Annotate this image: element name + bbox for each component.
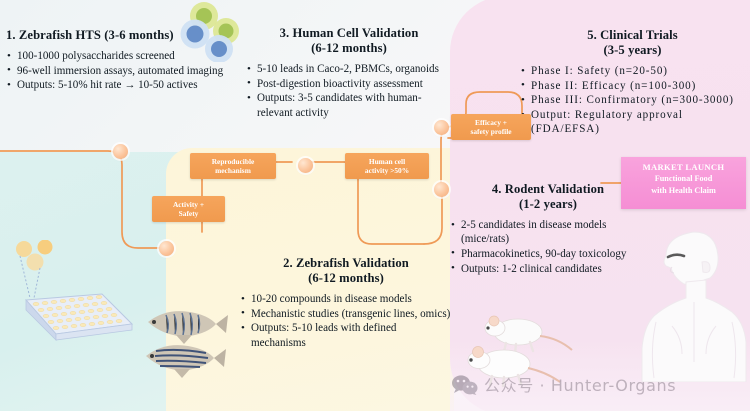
list-item: Output: Regulatory approval (FDA/EFSA) [520,108,745,136]
gate-label-line1: Reproducible [195,157,271,166]
connector-dot-3 [434,182,449,197]
gate-label-line1: Activity + [157,200,220,209]
list-item: Pharmacokinetics, 90-day toxicology [450,247,646,261]
gate-label-line2: mechanism [195,166,271,175]
zebrafish-icon [140,300,230,380]
stage-3-title-line2: (6-12 months) [246,41,452,56]
gate-label-human-cell-activity: Human cell activity >50% [345,153,429,179]
watermark: 公众号 · Hunter-Organs [452,372,676,396]
market-launch-badge: MARKET LAUNCH Functional Food with Healt… [621,157,746,209]
connector-dot-4 [434,120,449,135]
gate-label-reproducible-mechanism: Reproducible mechanism [190,153,276,179]
stage-3-human-cell-validation: 3. Human Cell Validation (6-12 months) 5… [246,26,452,120]
stage-3-bullets: 5-10 leads in Caco-2, PBMCs, organoids P… [246,62,452,120]
list-item: Outputs: 5-10% hit rate → 10-50 actives [6,78,234,92]
stage-2-bullets: 10-20 compounds in disease models Mechan… [240,292,452,350]
gate-label-line2: safety profile [456,127,526,136]
list-item: Phase I: Safety (n=20-50) [520,64,745,78]
gate-label-activity-safety: Activity + Safety [152,196,225,222]
connector-dot-1 [113,144,128,159]
market-launch-line3: with Health Claim [621,185,746,196]
gate-label-line1: Human cell [350,157,424,166]
gate-label-line2: activity >50% [350,166,424,175]
stage-5-clinical-trials: 5. Clinical Trials (3-5 years) Phase I: … [520,28,745,137]
stage-3-title-line1: 3. Human Cell Validation [246,26,452,41]
stage-4-bullets: 2-5 candidates in disease models (mice/r… [450,218,646,276]
human-torso-icon [638,222,750,382]
96-well-plate-icon [8,240,136,350]
watermark-text: 公众号 · Hunter-Organs [484,372,676,396]
list-item: 10-20 compounds in disease models [240,292,452,306]
market-launch-title: MARKET LAUNCH [621,162,746,173]
stage-4-title-line2: (1-2 years) [450,197,646,212]
stage-2-zebrafish-validation: 2. Zebrafish Validation (6-12 months) 10… [240,256,452,350]
list-item: Phase III: Confirmatory (n=300-3000) [520,93,745,107]
stage-4-title-line1: 4. Rodent Validation [450,182,646,197]
stage-5-bullets: Phase I: Safety (n=20-50) Phase II: Effi… [520,64,745,137]
list-item: Outputs: 1-2 clinical candidates [450,262,646,276]
gate-label-line1: Efficacy + [456,118,526,127]
stage-4-rodent-validation: 4. Rodent Validation (1-2 years) 2-5 can… [450,182,646,276]
list-item: Outputs: 5-10 leads with defined mechani… [240,321,452,349]
list-item: Mechanistic studies (transgenic lines, o… [240,307,452,321]
list-item: 5-10 leads in Caco-2, PBMCs, organoids [246,62,452,76]
stage-5-title-line1: 5. Clinical Trials [520,28,745,43]
list-item: Outputs: 3-5 candidates with human-relev… [246,91,452,119]
stage-2-title-line1: 2. Zebrafish Validation [240,256,452,271]
workflow-diagram: 1. Zebrafish HTS (3-6 months) 100-1000 p… [0,0,750,411]
cells-icon [178,0,246,62]
list-item: 2-5 candidates in disease models (mice/r… [450,218,646,246]
list-item: Post-digestion bioactivity assessment [246,77,452,91]
stage-5-title-line2: (3-5 years) [520,43,745,58]
connector-dot-5 [159,241,174,256]
list-item: 96-well immersion assays, automated imag… [6,64,234,78]
list-item: Phase II: Efficacy (n=100-300) [520,79,745,93]
market-launch-line2: Functional Food [621,173,746,184]
gate-label-line2: Safety [157,209,220,218]
connector-dot-2 [298,158,313,173]
gate-label-efficacy-safety-profile: Efficacy + safety profile [451,114,531,140]
stage-2-title-line2: (6-12 months) [240,271,452,286]
wechat-icon [452,374,478,395]
